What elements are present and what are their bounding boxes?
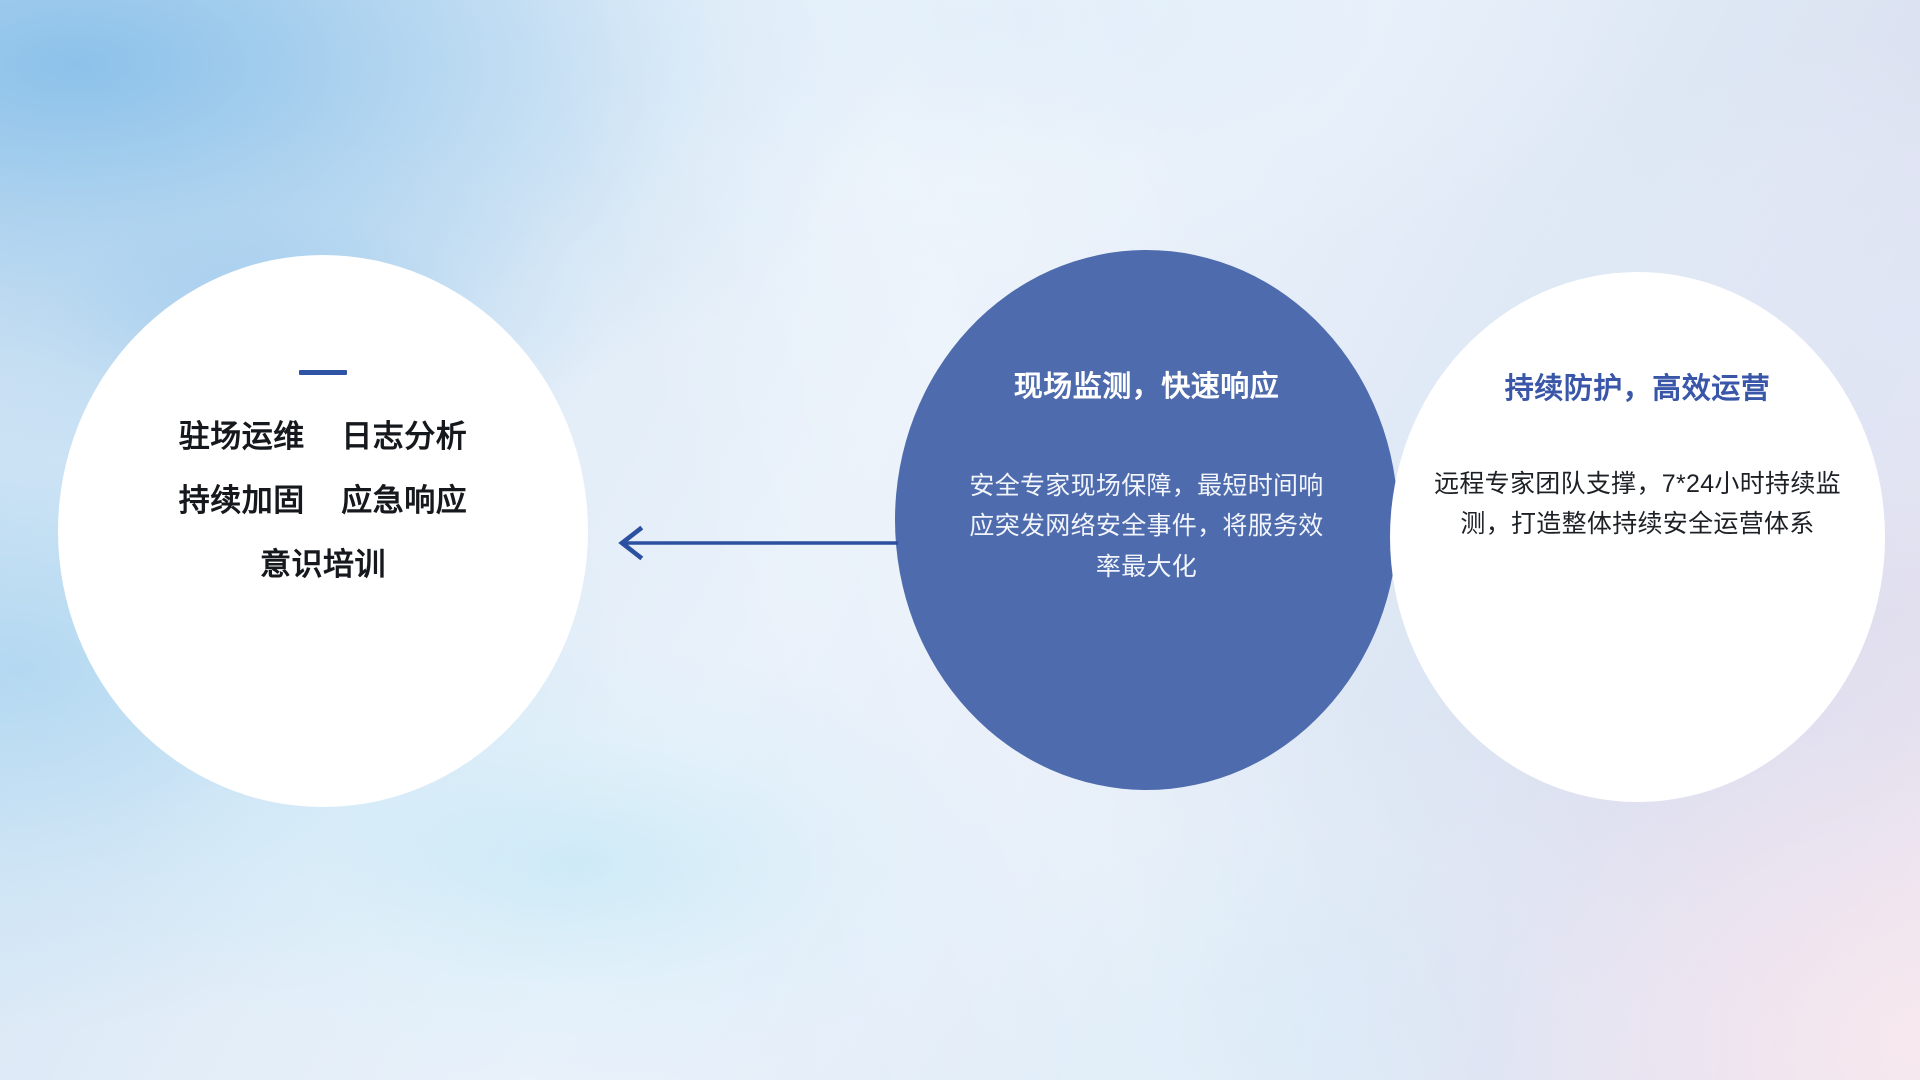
left-circle-row-3: 意识培训 <box>58 549 588 580</box>
middle-circle-body: 安全专家现场保障，最短时间响应突发网络安全事件，将服务效率最大化 <box>895 466 1398 588</box>
left-circle-row-2: 持续加固 应急响应 <box>58 485 588 516</box>
left-circle-divider <box>299 370 347 375</box>
left-circle-content: 驻场运维 日志分析 持续加固 应急响应 意识培训 <box>58 370 588 580</box>
middle-circle-title: 现场监测，快速响应 <box>895 372 1398 404</box>
left-circle-row-1: 驻场运维 日志分析 <box>58 421 588 452</box>
right-circle-body: 远程专家团队支撑，7*24小时持续监测，打造整体持续安全运营体系 <box>1390 464 1885 545</box>
middle-circle-content: 现场监测，快速响应 安全专家现场保障，最短时间响应突发网络安全事件，将服务效率最… <box>895 372 1398 587</box>
slide-canvas: 驻场运维 日志分析 持续加固 应急响应 意识培训 现场监测，快速响应 安全专家现… <box>0 0 1920 1080</box>
right-circle-title: 持续防护，高效运营 <box>1390 374 1885 406</box>
right-circle-content: 持续防护，高效运营 远程专家团队支撑，7*24小时持续监测，打造整体持续安全运营… <box>1390 374 1885 545</box>
flow-arrow-icon <box>600 515 900 571</box>
